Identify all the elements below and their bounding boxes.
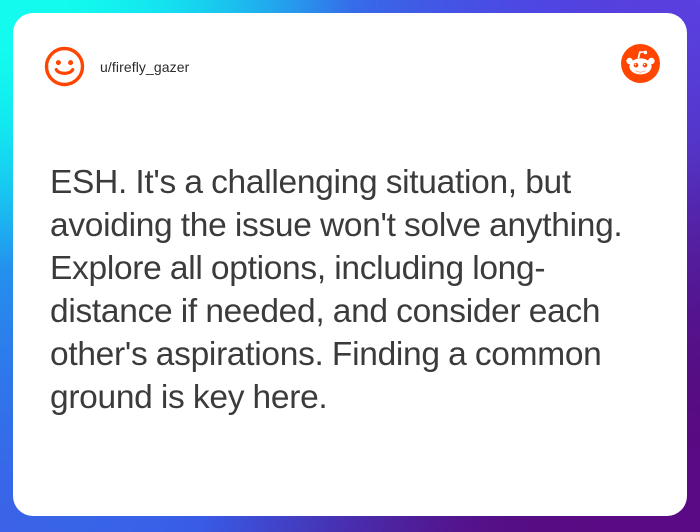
post-header: u/firefly_gazer	[13, 13, 687, 101]
username-label: u/firefly_gazer	[100, 57, 189, 77]
screenshot-root: u/firefly_gazer	[0, 0, 700, 532]
reddit-post-card: u/firefly_gazer	[13, 13, 687, 516]
post-body-text: ESH. It's a challenging situation, but a…	[50, 161, 665, 419]
smiley-face-avatar-icon	[44, 46, 85, 87]
reddit-snoo-icon[interactable]	[621, 44, 660, 83]
